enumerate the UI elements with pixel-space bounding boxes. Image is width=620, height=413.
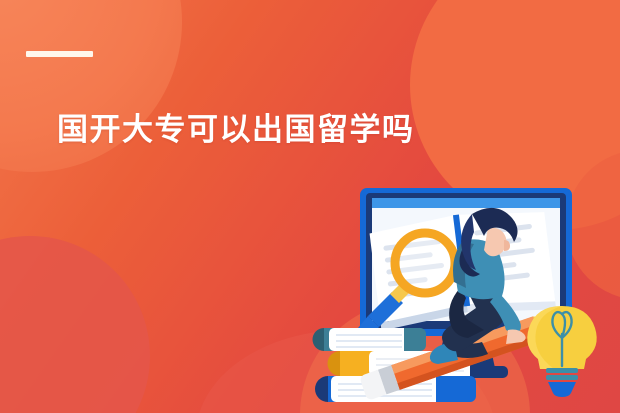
page-title: 国开大专可以出国留学吗 [57, 110, 415, 150]
student-studying-illustration [312, 188, 620, 413]
lightbulb-icon [527, 306, 596, 397]
accent-rule [26, 51, 93, 57]
banner-image: 国开大专可以出国留学吗 [0, 0, 620, 413]
